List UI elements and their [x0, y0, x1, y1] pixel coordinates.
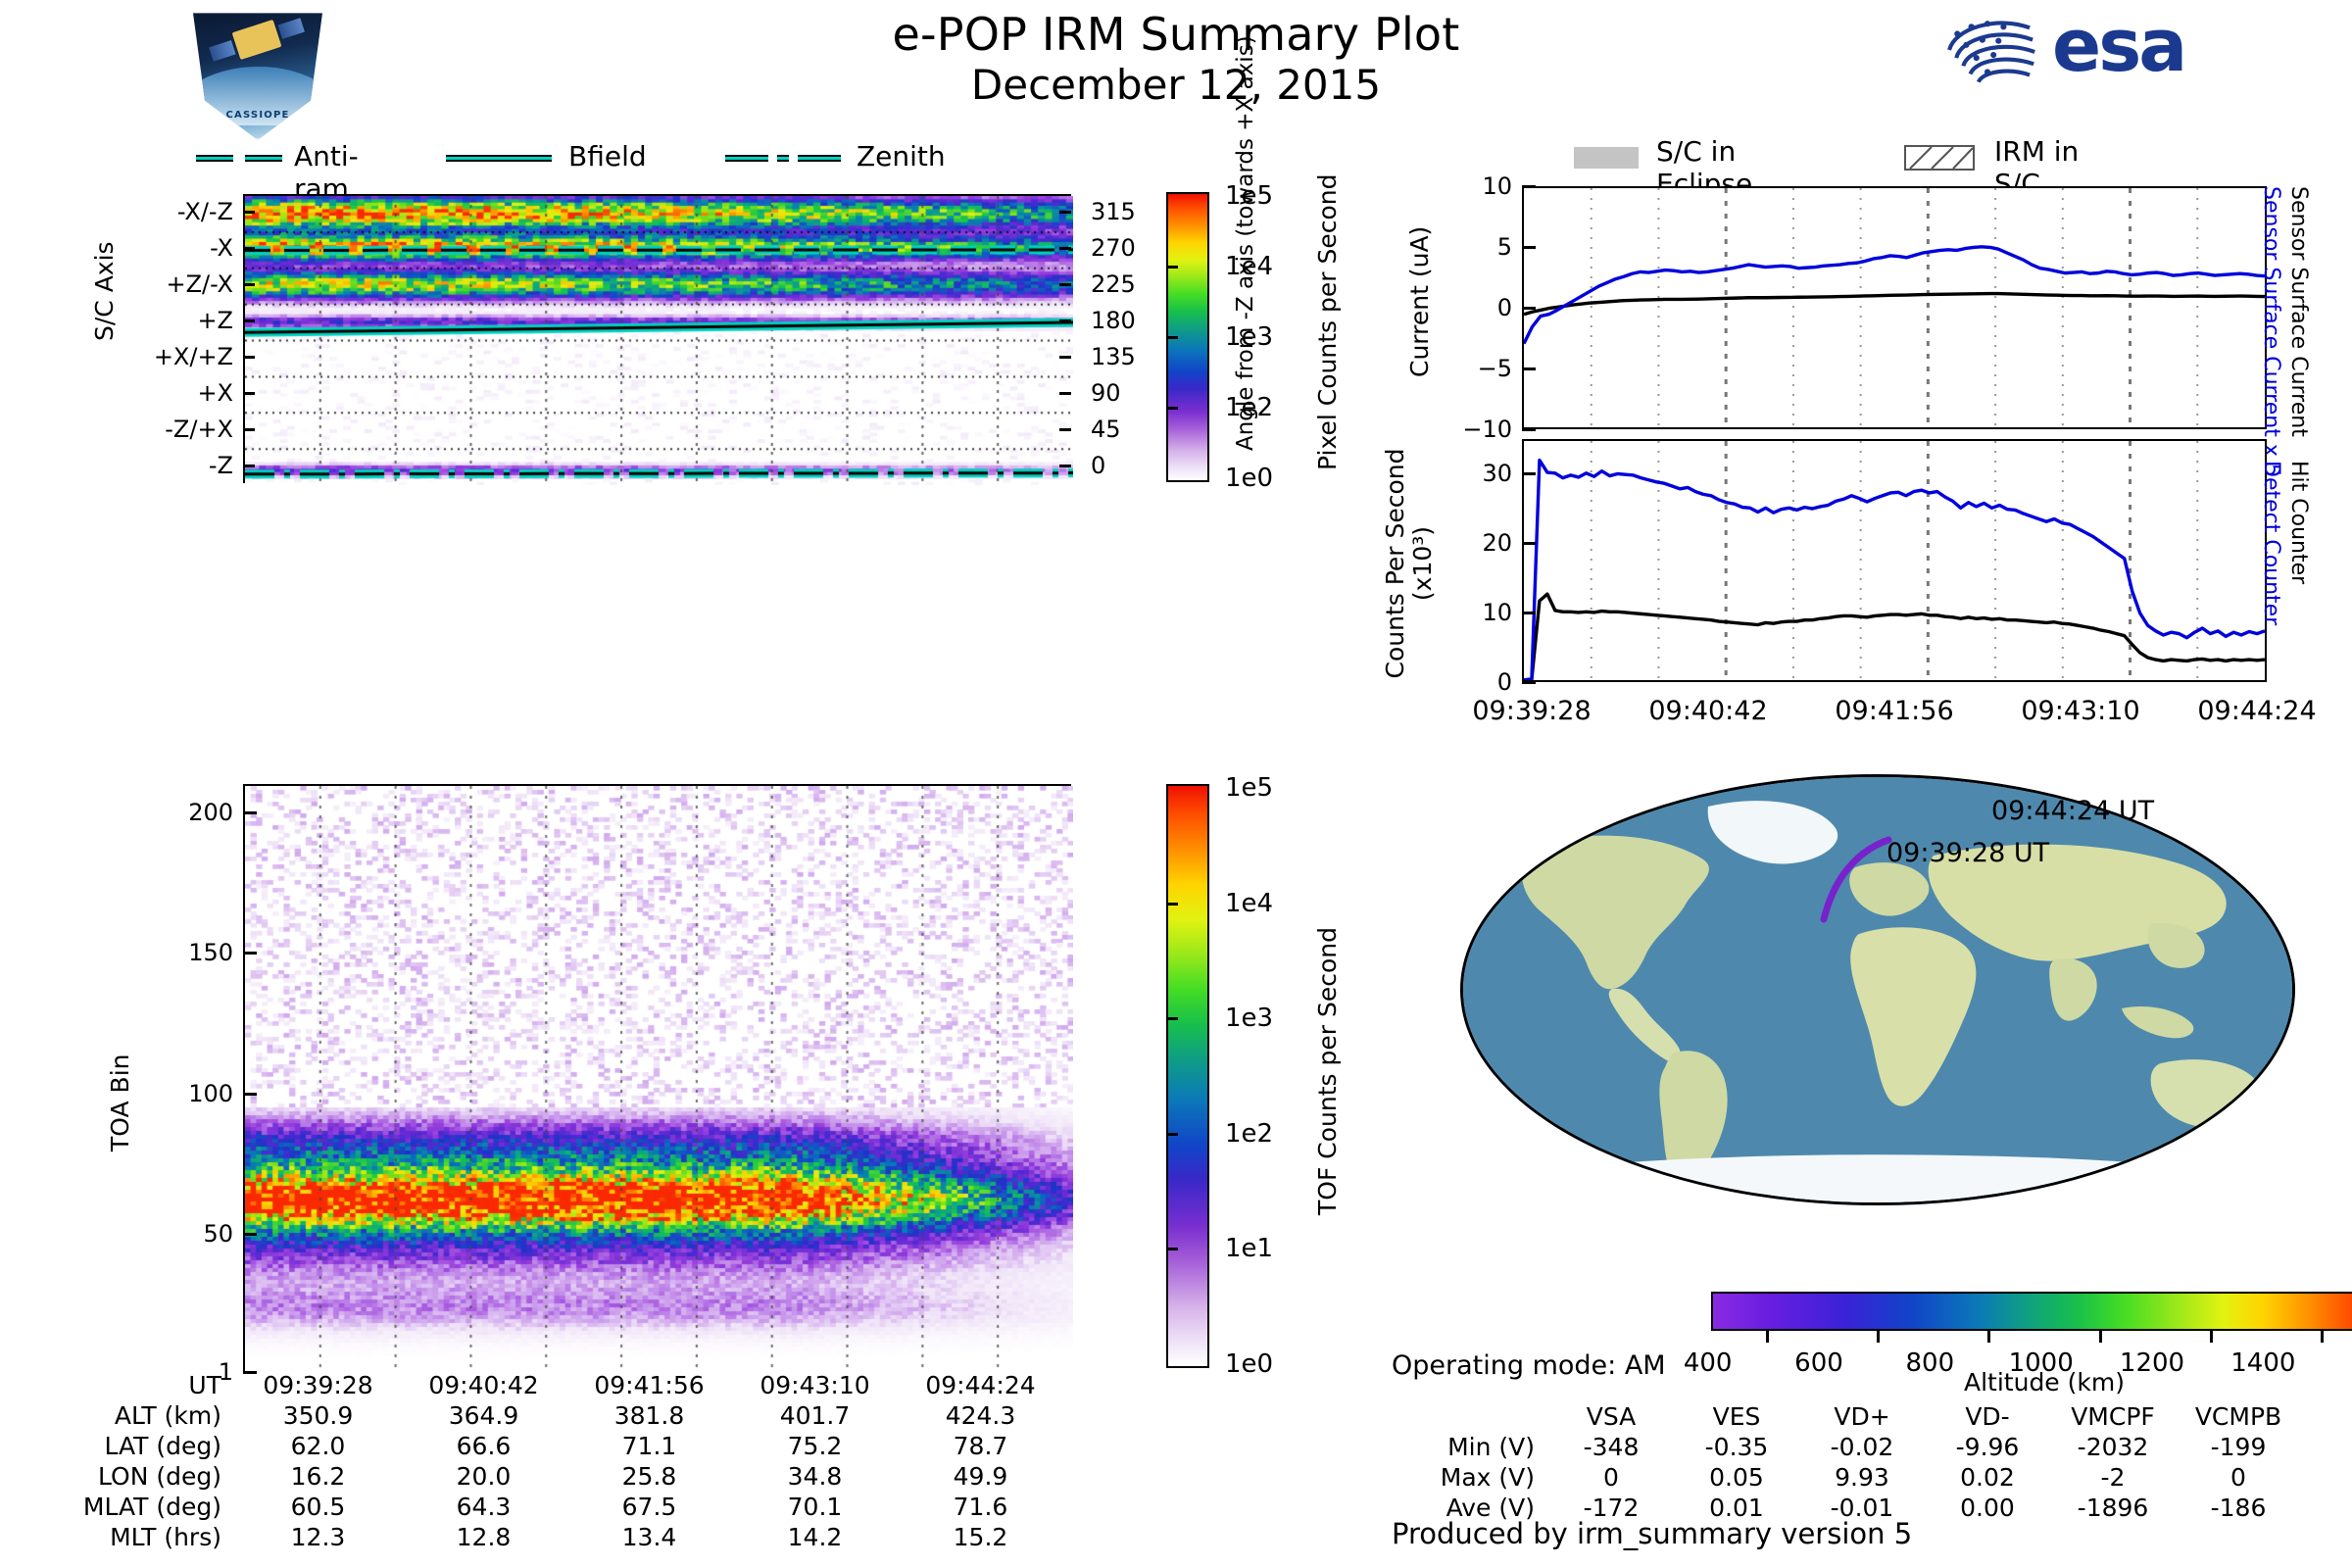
sc-angle-tickmark	[1059, 283, 1071, 286]
toa-bin-ylabel: TOA Bin	[106, 1151, 204, 1180]
voltage-col-header: VSA	[1548, 1401, 1674, 1432]
tof-counts-tick: 1e0	[1225, 1349, 1333, 1379]
sc-axis-tickmark	[243, 211, 255, 214]
altitude-tickmark	[1877, 1331, 1880, 1343]
current-ytick: −10	[1414, 416, 1512, 443]
ephemeris-cell: 66.6	[401, 1431, 566, 1461]
sc-axis-ytick: +Z/-X	[86, 270, 233, 298]
voltage-cell: -2	[2050, 1462, 2176, 1493]
counts-ytick-mark	[1522, 542, 1536, 545]
ephemeris-row-label: UT	[49, 1370, 235, 1400]
table-row: LON (deg)16.220.025.834.849.9	[49, 1461, 1063, 1492]
produced-by-text: Produced by irm_summary version 5	[1392, 1517, 1912, 1550]
ephemeris-cell: 09:44:24	[898, 1370, 1063, 1400]
sc-axis-ytick: +X	[86, 379, 233, 407]
table-row: MLT (hrs)12.312.813.414.215.2	[49, 1522, 1063, 1552]
tof-counts-colorbar-label: TOF Counts per Second	[1313, 1215, 1601, 1244]
current-ytick: −5	[1414, 355, 1512, 382]
series-hit-counter	[1524, 594, 2265, 680]
current-ytick: 5	[1414, 233, 1512, 261]
voltage-col-header: VES	[1674, 1401, 1799, 1432]
counts-xtick: 09:44:24	[2197, 696, 2316, 726]
current-ytick-mark	[1522, 307, 1536, 310]
sc-angle-tickmark	[1059, 428, 1071, 431]
counts-xtick: 09:41:56	[1835, 696, 1953, 726]
sc-axis-ytick: -Z	[86, 452, 233, 479]
track-end-label: 09:44:24 UT	[1991, 796, 2154, 826]
counts-ytick: 10	[1414, 599, 1512, 626]
sc-angle-ytick: 45	[1091, 416, 1169, 443]
cassiope-mission-patch-icon: CASSIOPE	[184, 8, 331, 140]
sc-angle-ytick: 90	[1091, 379, 1169, 407]
toa-bin-tickmark	[243, 952, 257, 955]
current-ytick: 0	[1414, 294, 1512, 321]
sc-axis-tickmark	[243, 319, 255, 322]
tof-counts-tick: 1e4	[1225, 889, 1333, 918]
counts-ytick-mark	[1522, 612, 1536, 614]
current-plot	[1522, 186, 2267, 429]
sc-angle-ytick: 315	[1091, 198, 1169, 225]
ephemeris-cell: 16.2	[235, 1461, 401, 1492]
voltage-row-label: Max (V)	[1401, 1462, 1548, 1493]
pixel-counts-tick-mark	[1166, 336, 1178, 339]
table-header-row: VSAVESVD+VD-VMCPFVCMPB	[1401, 1401, 2301, 1432]
sc-angle-tickmark	[1059, 211, 1071, 214]
voltage-cell: 0	[2176, 1462, 2301, 1493]
sc-angle-ytick: 0	[1091, 452, 1169, 479]
sc-axis-spectrogram	[243, 194, 1071, 483]
series-sensor-surface-current	[1524, 294, 2265, 315]
sc-axis-tickmark	[243, 356, 255, 359]
table-row: MLAT (deg)60.564.367.570.171.6	[49, 1492, 1063, 1522]
voltage-cell: 0	[1548, 1462, 1674, 1493]
altitude-tickmark	[2099, 1331, 2102, 1343]
sc-angle-ytick: 225	[1091, 270, 1169, 298]
ephemeris-cell: 64.3	[401, 1492, 566, 1522]
ephemeris-cell: 15.2	[898, 1522, 1063, 1552]
world-map[interactable]	[1460, 774, 2295, 1205]
ephemeris-cell: 49.9	[898, 1461, 1063, 1492]
ephemeris-row-label: MLT (hrs)	[49, 1522, 235, 1552]
ephemeris-cell: 12.8	[401, 1522, 566, 1552]
ephemeris-cell: 70.1	[732, 1492, 898, 1522]
sc-axis-ytick: -X/-Z	[86, 198, 233, 225]
sc-axis-tickmark	[243, 465, 255, 467]
table-row: ALT (km)350.9364.9381.8401.7424.3	[49, 1400, 1063, 1431]
altitude-tickmark	[1766, 1331, 1769, 1343]
voltage-cell: 0.05	[1674, 1462, 1799, 1493]
operating-mode-text: Operating mode: AM	[1392, 1350, 1666, 1381]
ephemeris-cell: 71.1	[566, 1431, 732, 1461]
pixel-counts-tick-mark	[1166, 266, 1178, 269]
track-start-label: 09:39:28 UT	[1886, 838, 2049, 868]
legend-swatch-anti-ram-a	[196, 155, 233, 162]
voltage-cell: -1896	[2050, 1493, 2176, 1523]
ephemeris-cell: 381.8	[566, 1400, 732, 1431]
voltage-cell: 0.00	[1925, 1493, 2050, 1523]
sc-angle-ytick: 135	[1091, 343, 1169, 370]
voltage-cell: -186	[2176, 1493, 2301, 1523]
ephemeris-cell: 25.8	[566, 1461, 732, 1492]
counts-ytick-mark	[1522, 472, 1536, 475]
sc-axis-ytick: +X/+Z	[86, 343, 233, 370]
voltage-cell: -0.02	[1799, 1432, 1925, 1462]
voltage-cell: -0.35	[1674, 1432, 1799, 1462]
table-row: LAT (deg)62.066.671.175.278.7	[49, 1431, 1063, 1461]
voltage-col-header: VCMPB	[2176, 1401, 2301, 1432]
legend-swatch-anti-ram-b	[245, 155, 282, 162]
counts-ytick: 20	[1414, 529, 1512, 557]
ephemeris-row-label: MLAT (deg)	[49, 1492, 235, 1522]
sc-axis-tickmark	[243, 428, 255, 431]
sc-angle-tickmark	[1059, 319, 1071, 322]
current-ytick-mark	[1522, 367, 1536, 370]
ephemeris-cell: 09:41:56	[566, 1370, 732, 1400]
ephemeris-cell: 34.8	[732, 1461, 898, 1492]
ephemeris-cell: 350.9	[235, 1400, 401, 1431]
voltage-table: VSAVESVD+VD-VMCPFVCMPBMin (V)-348-0.35-0…	[1401, 1401, 2301, 1523]
altitude-tickmark	[1987, 1331, 1990, 1343]
ephemeris-cell: 13.4	[566, 1522, 732, 1552]
ephemeris-row-label: LAT (deg)	[49, 1431, 235, 1461]
counts-plot	[1522, 439, 2267, 682]
ephemeris-cell: 09:43:10	[732, 1370, 898, 1400]
ephemeris-cell: 364.9	[401, 1400, 566, 1431]
tof-counts-tick-mark	[1166, 1017, 1178, 1020]
counts-xtick: 09:39:28	[1472, 696, 1591, 726]
ephemeris-cell: 09:40:42	[401, 1370, 566, 1400]
ephemeris-cell: 60.5	[235, 1492, 401, 1522]
voltage-corner	[1401, 1401, 1548, 1432]
toa-bin-tickmark	[243, 1093, 257, 1096]
voltage-cell: -9.96	[1925, 1432, 2050, 1462]
counts-ytick: 0	[1414, 668, 1512, 696]
tof-counts-tick: 1e5	[1225, 773, 1333, 803]
current-ytick-mark	[1522, 185, 1536, 188]
voltage-cell: -199	[2176, 1432, 2301, 1462]
counts-plot-right-label-black: Hit Counter	[2311, 461, 2352, 485]
sc-axis-tickmark	[243, 247, 255, 250]
current-plot-right-label-black: Sensor Surface Current	[2311, 186, 2352, 211]
ephemeris-cell: 62.0	[235, 1431, 401, 1461]
toa-bin-tickmark	[243, 811, 257, 814]
ephemeris-cell: 09:39:28	[235, 1370, 401, 1400]
ephemeris-cell: 424.3	[898, 1400, 1063, 1431]
toa-bin-spectrogram	[243, 784, 1071, 1372]
series-detect-counter	[1524, 461, 2265, 680]
counts-ytick-mark	[1522, 681, 1536, 684]
counts-xtick: 09:43:10	[2021, 696, 2139, 726]
counts-xtick: 09:40:42	[1648, 696, 1767, 726]
altitude-colorbar	[1711, 1292, 2352, 1331]
ephemeris-cell: 14.2	[732, 1522, 898, 1552]
legend-swatch-irm-shadow	[1904, 145, 1975, 171]
voltage-cell: -2032	[2050, 1432, 2176, 1462]
legend-swatch-zenith-c	[798, 155, 841, 162]
current-ytick-mark	[1522, 246, 1536, 249]
sc-angle-tickmark	[1059, 356, 1071, 359]
pixel-counts-tick-mark	[1166, 407, 1178, 410]
ephemeris-table: UT09:39:2809:40:4209:41:5609:43:1009:44:…	[49, 1370, 1063, 1552]
voltage-col-header: VMCPF	[2050, 1401, 2176, 1432]
toa-bin-tickmark	[243, 1233, 257, 1236]
altitude-tickmark	[2210, 1331, 2213, 1343]
tof-counts-tick-mark	[1166, 903, 1178, 906]
voltage-cell: 0.02	[1925, 1462, 2050, 1493]
table-row: Min (V)-348-0.35-0.02-9.96-2032-199	[1401, 1432, 2301, 1462]
altitude-colorbar-label: Altitude (km)	[1711, 1368, 2352, 1396]
toa-bin-ytick: 200	[106, 799, 233, 826]
ephemeris-cell: 67.5	[566, 1492, 732, 1522]
current-ytick-mark	[1522, 428, 1536, 431]
table-row: Max (V)00.059.930.02-20	[1401, 1462, 2301, 1493]
ephemeris-cell: 75.2	[732, 1431, 898, 1461]
sc-angle-ytick: 270	[1091, 234, 1169, 262]
legend-label-zenith: Zenith	[857, 140, 946, 172]
table-row: UT09:39:2809:40:4209:41:5609:43:1009:44:…	[49, 1370, 1063, 1400]
sc-axis-ytick: -Z/+X	[86, 416, 233, 443]
sc-axis-ytick: -X	[86, 234, 233, 262]
sc-angle-tickmark	[1059, 392, 1071, 395]
sc-axis-tickmark	[243, 392, 255, 395]
cassiope-patch-label: CASSIOPE	[186, 110, 329, 121]
tof-counts-tick-mark	[1166, 1248, 1178, 1250]
toa-bin-ytick: 50	[106, 1220, 233, 1248]
esa-swirl-icon	[1935, 14, 2040, 94]
voltage-row-label: Min (V)	[1401, 1432, 1548, 1462]
toa-bin-ytick: 100	[106, 1080, 233, 1107]
voltage-cell: -348	[1548, 1432, 1674, 1462]
sc-angle-ytick: 180	[1091, 307, 1169, 334]
sc-axis-ytick: +Z	[86, 307, 233, 334]
legend-swatch-eclipse	[1574, 147, 1639, 169]
legend-swatch-bfield	[446, 155, 552, 162]
current-ytick: 10	[1414, 172, 1512, 200]
esa-logo-icon: esa	[1935, 10, 2278, 98]
voltage-col-header: VD+	[1799, 1401, 1925, 1432]
legend-swatch-zenith-a	[725, 155, 768, 162]
ephemeris-cell: 78.7	[898, 1431, 1063, 1461]
sc-angle-tickmark	[1059, 465, 1071, 467]
toa-bin-ytick: 150	[106, 939, 233, 966]
ephemeris-cell: 401.7	[732, 1400, 898, 1431]
ephemeris-cell: 20.0	[401, 1461, 566, 1492]
voltage-col-header: VD-	[1925, 1401, 2050, 1432]
altitude-tickmark	[2321, 1331, 2324, 1343]
counts-ytick: 30	[1414, 460, 1512, 487]
tof-counts-colorbar	[1166, 784, 1209, 1368]
sc-angle-tickmark	[1059, 247, 1071, 250]
ephemeris-cell: 71.6	[898, 1492, 1063, 1522]
legend-label-bfield: Bfield	[568, 140, 647, 172]
ephemeris-cell: 12.3	[235, 1522, 401, 1552]
legend-swatch-zenith-b	[777, 155, 789, 162]
sc-axis-tickmark	[243, 283, 255, 286]
ephemeris-row-label: ALT (km)	[49, 1400, 235, 1431]
ephemeris-row-label: LON (deg)	[49, 1461, 235, 1492]
voltage-cell: 9.93	[1799, 1462, 1925, 1493]
esa-wordmark: esa	[2052, 4, 2184, 88]
orbit-track	[1463, 777, 2295, 1205]
tof-counts-tick-mark	[1166, 1133, 1178, 1136]
